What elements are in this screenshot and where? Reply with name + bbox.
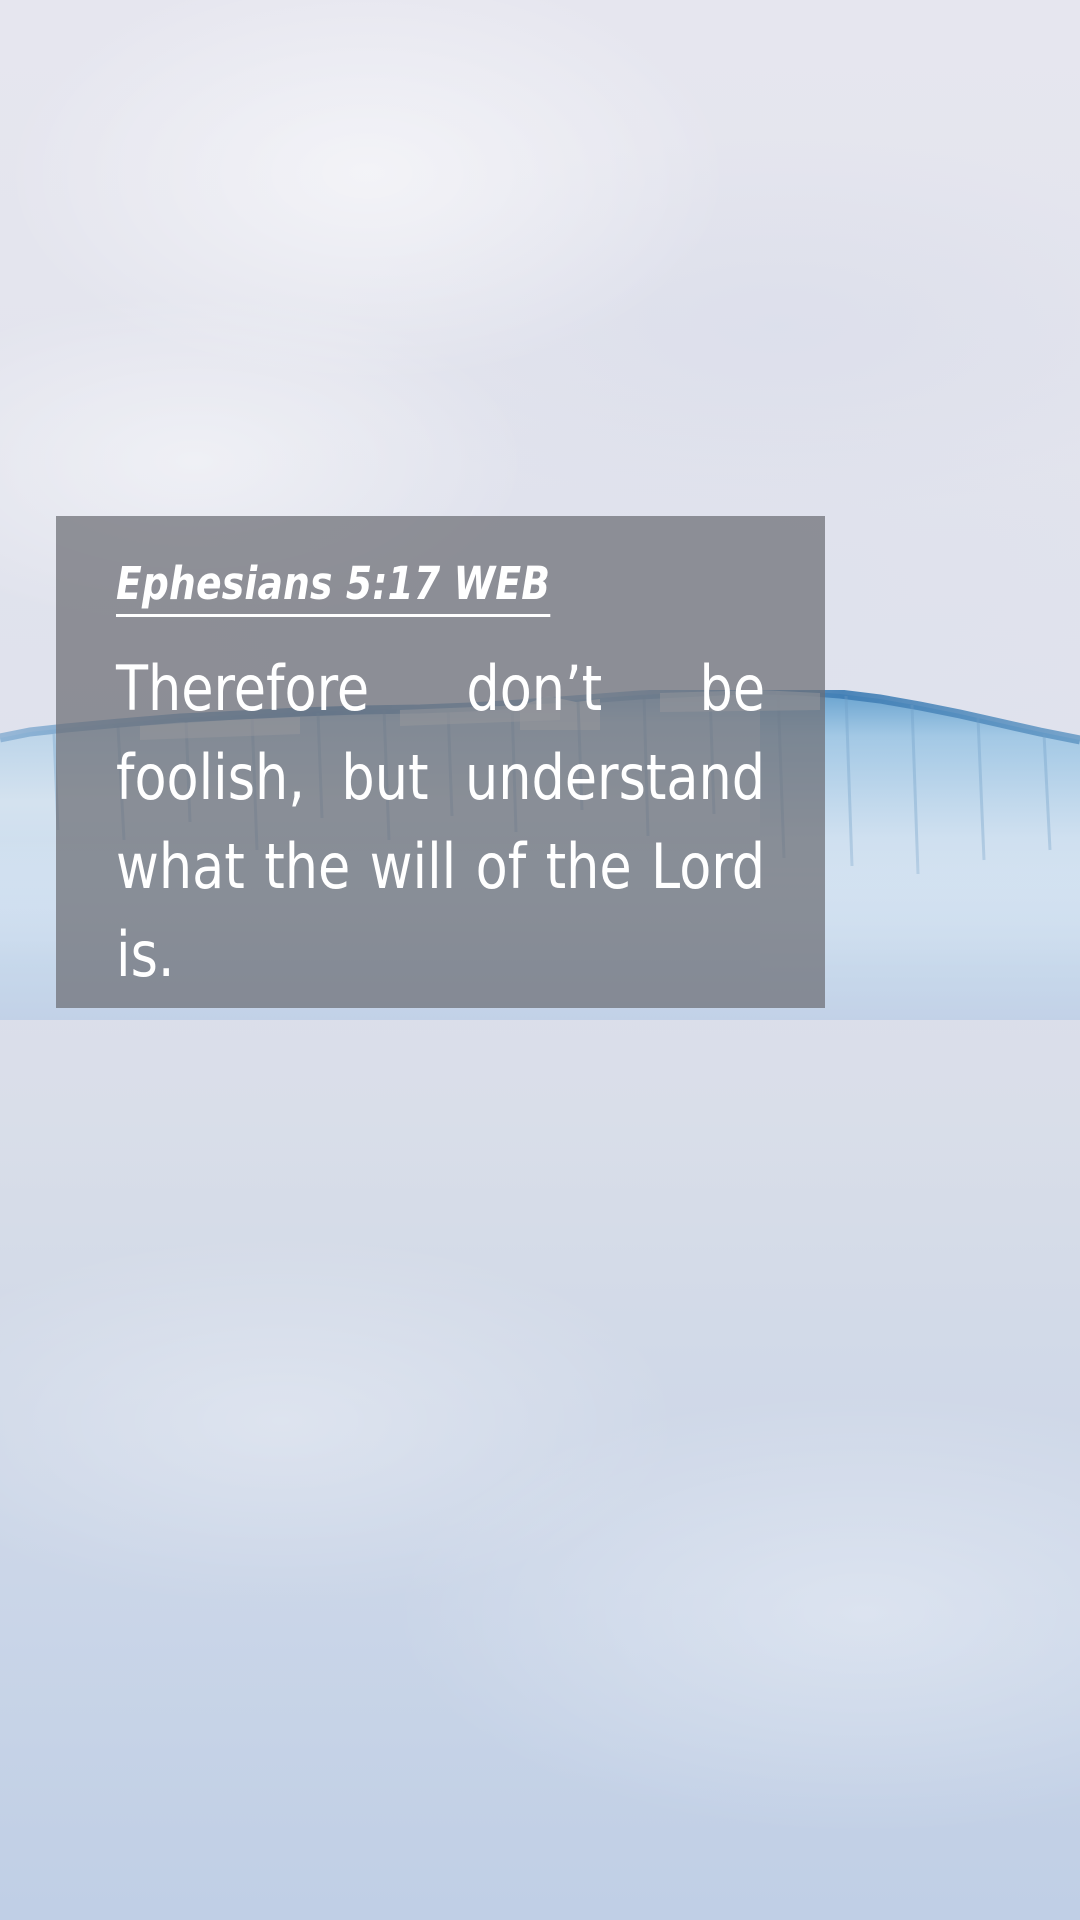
verse-text: Therefore don’t be foolish, but understa…	[116, 645, 765, 1000]
verse-reference: Ephesians 5:17 WEB	[116, 560, 550, 617]
verse-overlay-panel: Ephesians 5:17 WEB Therefore don’t be fo…	[56, 516, 825, 1008]
